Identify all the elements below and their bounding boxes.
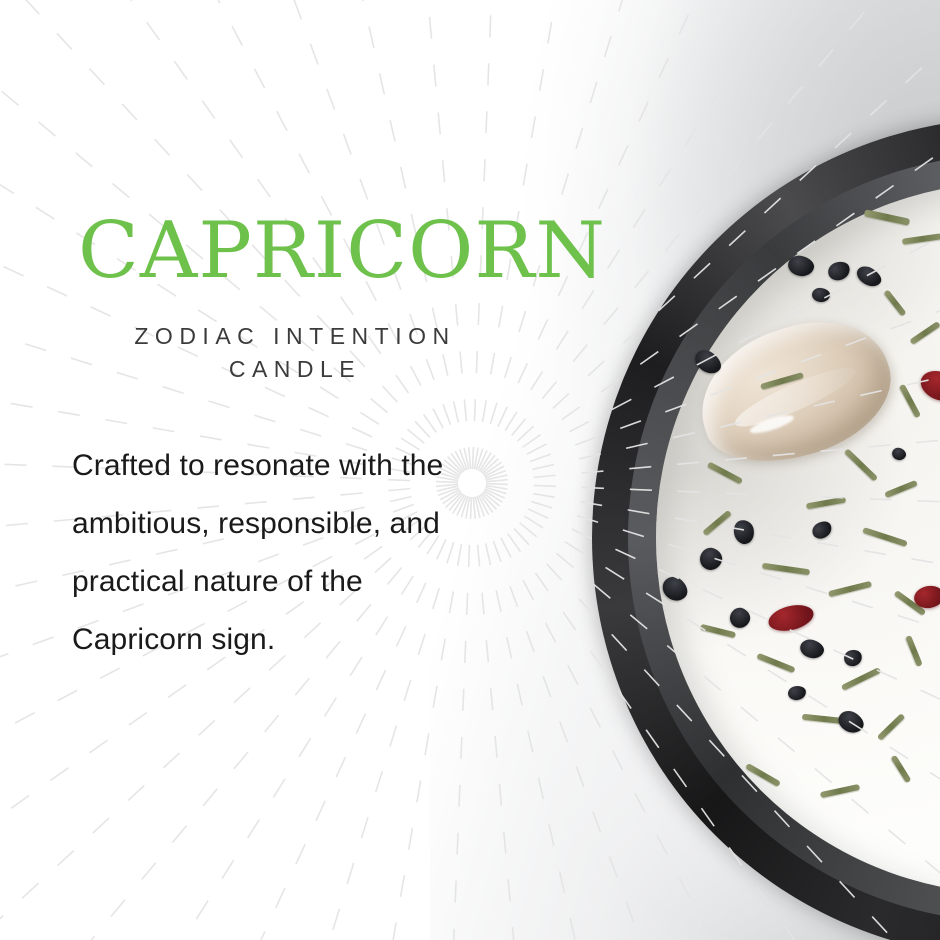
product-subtitle: ZODIAC INTENTION CANDLE bbox=[70, 320, 520, 387]
product-description-line: practical nature of the bbox=[72, 553, 534, 611]
product-description-line: Crafted to resonate with the bbox=[72, 437, 534, 495]
product-graphic-canvas: CAPRICORN ZODIAC INTENTION CANDLE Crafte… bbox=[0, 0, 940, 940]
product-description-line: ambitious, responsible, and bbox=[72, 495, 534, 553]
product-subtitle-line-2: CANDLE bbox=[70, 353, 520, 386]
quartz-crystal-facet bbox=[730, 358, 861, 435]
page-title: CAPRICORN bbox=[78, 212, 527, 290]
product-subtitle-line-1: ZODIAC INTENTION bbox=[70, 320, 520, 353]
product-description: Crafted to resonate with the ambitious, … bbox=[72, 437, 534, 669]
product-description-line: Capricorn sign. bbox=[72, 611, 534, 669]
